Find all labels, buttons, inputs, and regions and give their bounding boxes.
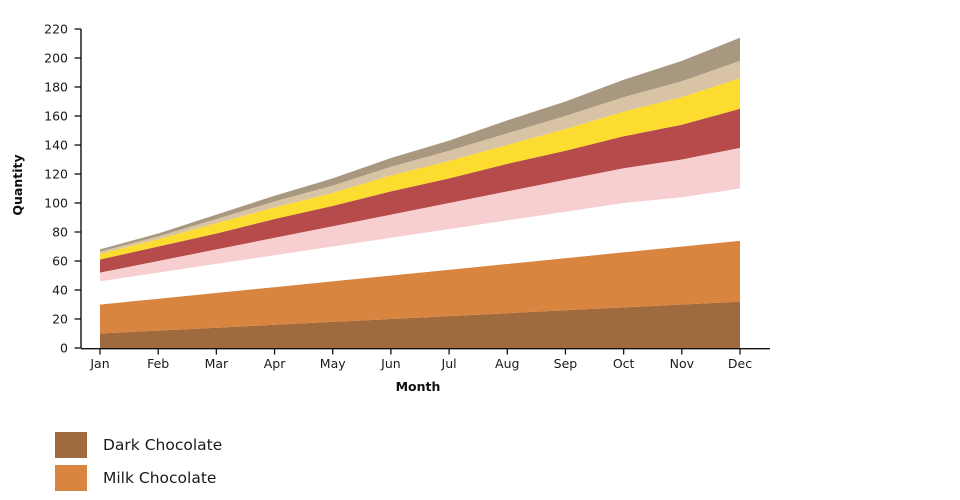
y-tick-label: 180 (44, 80, 68, 95)
y-tick-label: 160 (44, 109, 68, 124)
y-tick-label: 80 (52, 225, 68, 240)
x-axis-title: Month (396, 379, 441, 394)
y-tick-label: 40 (52, 283, 68, 298)
y-tick-label: 140 (44, 138, 68, 153)
y-axis-title: Quantity (10, 154, 25, 215)
y-tick-label: 120 (44, 167, 68, 182)
stacked-area-chart: 020406080100120140160180200220 JanFebMar… (0, 0, 960, 500)
x-tick-label: Aug (495, 356, 519, 371)
x-tick-label: Jul (441, 356, 457, 371)
x-tick-label: Jun (380, 356, 401, 371)
chart-canvas: 020406080100120140160180200220 JanFebMar… (0, 0, 960, 500)
legend-item[interactable]: Milk Chocolate (55, 461, 475, 494)
x-tick-label: Feb (147, 356, 169, 371)
x-tick-label: Oct (613, 356, 635, 371)
y-tick-label: 220 (44, 22, 68, 37)
legend-swatch-icon (55, 465, 87, 491)
area-series-group (100, 38, 740, 348)
x-tick-label: Dec (728, 356, 752, 371)
y-tick-label: 0 (60, 341, 68, 356)
legend-swatch-icon (55, 432, 87, 458)
x-tick-label: Mar (205, 356, 229, 371)
x-tick-label: Jan (89, 356, 109, 371)
x-tick-label: Apr (264, 356, 286, 371)
x-tick-label: May (320, 356, 346, 371)
x-tick-group: JanFebMarAprMayJunJulAugSepOctNovDec (89, 349, 752, 371)
y-tick-label: 20 (52, 312, 68, 327)
legend-item-label: Dark Chocolate (103, 436, 222, 454)
chart-legend: Dark ChocolateMilk Chocolate (55, 428, 475, 494)
legend-item[interactable]: Dark Chocolate (55, 428, 475, 461)
x-tick-label: Sep (554, 356, 578, 371)
y-tick-label: 100 (44, 196, 68, 211)
y-tick-group: 020406080100120140160180200220 (44, 22, 81, 356)
y-tick-label: 200 (44, 51, 68, 66)
y-tick-label: 60 (52, 254, 68, 269)
legend-item-label: Milk Chocolate (103, 469, 216, 487)
x-tick-label: Nov (670, 356, 695, 371)
